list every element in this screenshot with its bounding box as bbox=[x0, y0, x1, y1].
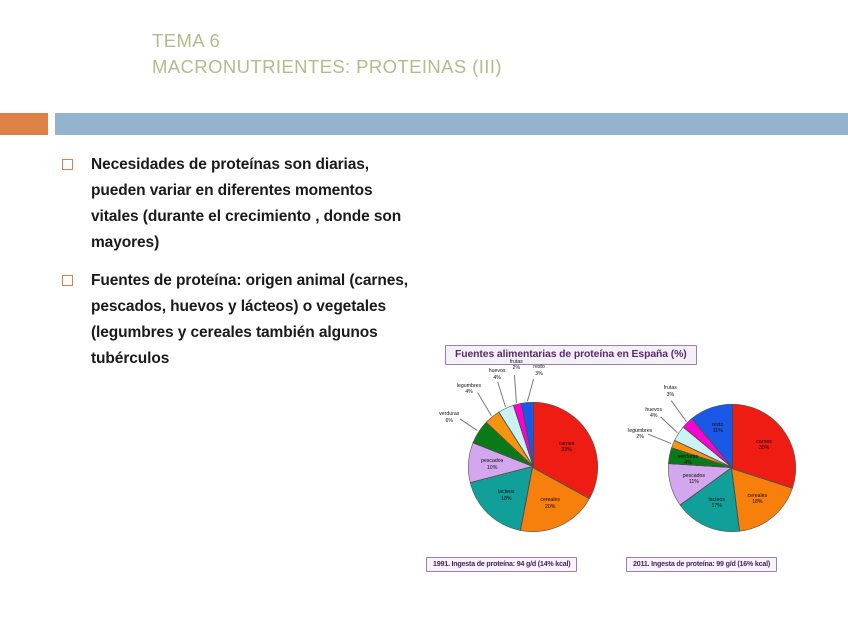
pie-slice-label: lacteos17% bbox=[695, 497, 739, 509]
pie-slice-label: frutas3% bbox=[648, 385, 692, 397]
pie-slice-label: pescados11% bbox=[672, 473, 716, 485]
accent-bar-blue bbox=[55, 113, 848, 135]
pie-slice-divider bbox=[533, 402, 534, 467]
pie-slice-label: cereales20% bbox=[528, 497, 572, 509]
pie-slice-label: cereales18% bbox=[735, 493, 779, 505]
pie-slice-label: resto3% bbox=[517, 364, 561, 376]
pie-slice-divider bbox=[732, 404, 733, 468]
pie-slice-label: pescados10% bbox=[470, 458, 514, 470]
bullet-text: Fuentes de proteína: origen animal (carn… bbox=[91, 268, 417, 372]
pie-slice-label: verduras4% bbox=[666, 454, 710, 466]
bullet-square-icon bbox=[62, 275, 73, 286]
bullet-list: Necesidades de proteínas son diarias, pu… bbox=[62, 152, 417, 384]
bullet-square-icon bbox=[62, 159, 73, 170]
caption-2011: 2011. Ingesta de proteína: 99 g/d (16% k… bbox=[626, 557, 777, 572]
list-item: Fuentes de proteína: origen animal (carn… bbox=[62, 268, 417, 372]
figure-protein-sources: Fuentes alimentarias de proteína en Espa… bbox=[418, 338, 828, 588]
slide-canvas: TEMA 6 MACRONUTRIENTES: PROTEINAS (III) … bbox=[0, 0, 848, 636]
pie-slice-label: carnes33% bbox=[545, 441, 589, 453]
caption-1991: 1991. Ingesta de proteína: 94 g/d (14% k… bbox=[426, 557, 577, 572]
pie-chart-2011: carnes30%cereales18%lacteos17%pescados11… bbox=[618, 386, 818, 556]
pie-chart-1991: carnes33%cereales20%lacteos18%pescados10… bbox=[424, 386, 614, 556]
pie-slice-label: resto11% bbox=[696, 422, 740, 434]
pie-slice-label: carnes30% bbox=[742, 439, 786, 451]
title-line-2: MACRONUTRIENTES: PROTEINAS (III) bbox=[152, 54, 502, 80]
title-line-1: TEMA 6 bbox=[152, 28, 502, 54]
bullet-text: Necesidades de proteínas son diarias, pu… bbox=[91, 152, 417, 256]
slide-title: TEMA 6 MACRONUTRIENTES: PROTEINAS (III) bbox=[152, 28, 502, 80]
figure-title: Fuentes alimentarias de proteína en Espa… bbox=[445, 345, 697, 365]
pie-label-leader-line bbox=[497, 382, 505, 407]
pie-slice-label: legumbres4% bbox=[447, 383, 491, 395]
list-item: Necesidades de proteínas son diarias, pu… bbox=[62, 152, 417, 256]
pie-slice-label: lacteos18% bbox=[484, 489, 528, 501]
pie-label-leader-line bbox=[527, 378, 534, 401]
accent-bar-orange bbox=[0, 113, 48, 135]
pie-label-leader-line bbox=[477, 393, 491, 416]
pie-slice-label: huevos4% bbox=[632, 407, 676, 419]
